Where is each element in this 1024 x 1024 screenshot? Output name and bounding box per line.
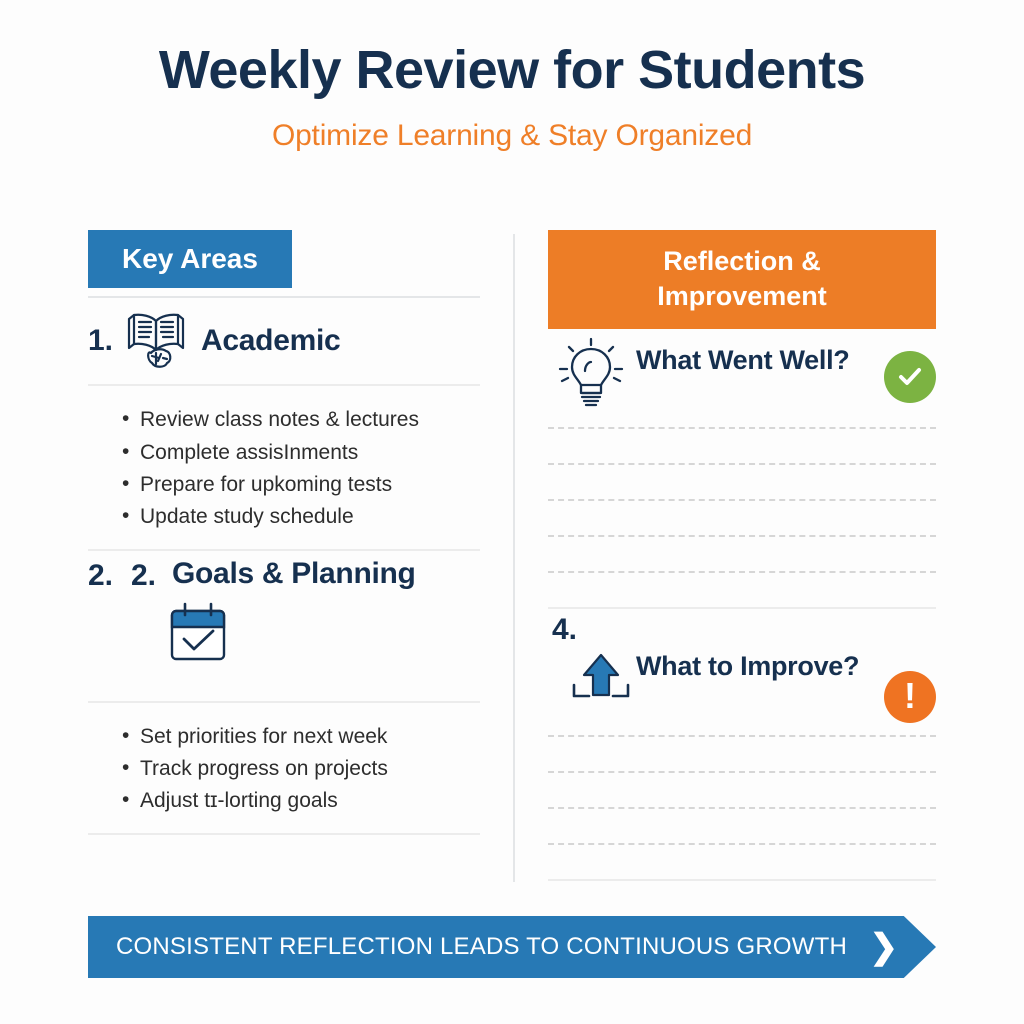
section-goals-planning: 2. 2. Goals & Planning Set priorities fo…: [88, 551, 480, 835]
list-item: Track progress on projects: [122, 753, 480, 785]
section-goals-bullets: Set priorities for next week Track progr…: [88, 703, 480, 833]
what-to-improve-writing-lines[interactable]: [548, 729, 936, 845]
writing-line[interactable]: [548, 499, 936, 501]
calendar-check-icon: [164, 599, 232, 672]
bottom-banner[interactable]: CONSISTENT REFLECTION LEADS TO CONTINUOU…: [88, 916, 936, 978]
column-divider: [513, 234, 515, 882]
section-goals-title-row: 2. 2. Goals & Planning: [88, 551, 480, 701]
panel-what-to-improve-head: 4. What to Improve? !: [548, 609, 936, 729]
section-goals-bottom-rule: [88, 833, 480, 835]
banner-shape[interactable]: CONSISTENT REFLECTION LEADS TO CONTINUOU…: [88, 916, 936, 978]
panel-what-went-well: What Went Well?: [548, 329, 936, 609]
right-column: Reflection & Improvement: [548, 230, 936, 881]
list-item: Update study schedule: [122, 501, 480, 533]
writing-line[interactable]: [548, 735, 936, 737]
exclamation-glyph: !: [904, 678, 916, 714]
exclamation-badge: !: [884, 671, 936, 723]
section-academic-label: Academic: [201, 324, 340, 358]
page-title: Weekly Review for Students: [0, 42, 1024, 99]
panel-what-to-improve-rule: [548, 879, 936, 881]
key-areas-header: Key Areas: [88, 230, 292, 288]
up-arrow-icon: [570, 651, 632, 712]
writing-line[interactable]: [548, 427, 936, 429]
writing-line[interactable]: [548, 535, 936, 537]
list-item: Complete assisInments: [122, 437, 480, 469]
left-column: Key Areas 1.: [88, 230, 480, 835]
section-academic-title-row: 1. Aca: [88, 298, 480, 384]
banner-text: CONSISTENT REFLECTION LEADS TO CONTINUOU…: [88, 933, 847, 961]
list-item: Prepare for upkoming tests: [122, 469, 480, 501]
list-item: Review class notes & lectures: [122, 404, 480, 436]
list-item: Adjust tɪ-lorting goals: [122, 785, 480, 817]
what-went-well-writing-lines[interactable]: [548, 421, 936, 573]
content-columns: Key Areas 1.: [0, 230, 1024, 890]
panel-what-to-improve-title: What to Improve?: [636, 651, 859, 682]
page-header: Weekly Review for Students Optimize Lear…: [0, 0, 1024, 153]
panel-what-to-improve-number: 4.: [552, 613, 577, 647]
reflection-header-line1: Reflection &: [558, 244, 926, 279]
section-goals-number: 2.: [88, 559, 113, 593]
page-subtitle: Optimize Learning & Stay Organized: [0, 119, 1024, 153]
writing-line[interactable]: [548, 463, 936, 465]
panel-what-went-well-head: What Went Well?: [548, 329, 936, 421]
section-academic-bullets: Review class notes & lectures Complete a…: [88, 386, 480, 549]
section-goals-label: Goals & Planning: [172, 557, 416, 591]
section-goals-number-duplicate: 2.: [131, 559, 156, 593]
panel-what-to-improve: 4. What to Improve? !: [548, 609, 936, 881]
reflection-header-line2: Improvement: [558, 279, 926, 314]
check-badge: [884, 351, 936, 403]
writing-line[interactable]: [548, 807, 936, 809]
lightbulb-icon: [558, 335, 624, 416]
writing-line[interactable]: [548, 843, 936, 845]
reflection-header: Reflection & Improvement: [548, 230, 936, 329]
section-academic-number: 1.: [88, 324, 113, 358]
list-item: Set priorities for next week: [122, 721, 480, 753]
writing-line[interactable]: [548, 771, 936, 773]
panel-what-went-well-title: What Went Well?: [636, 345, 850, 376]
key-areas-header-wrap: Key Areas: [88, 230, 480, 298]
book-brain-icon: [125, 308, 189, 375]
chevron-right-icon: ❯: [870, 930, 899, 964]
section-academic: 1. Aca: [88, 298, 480, 551]
writing-line[interactable]: [548, 571, 936, 573]
